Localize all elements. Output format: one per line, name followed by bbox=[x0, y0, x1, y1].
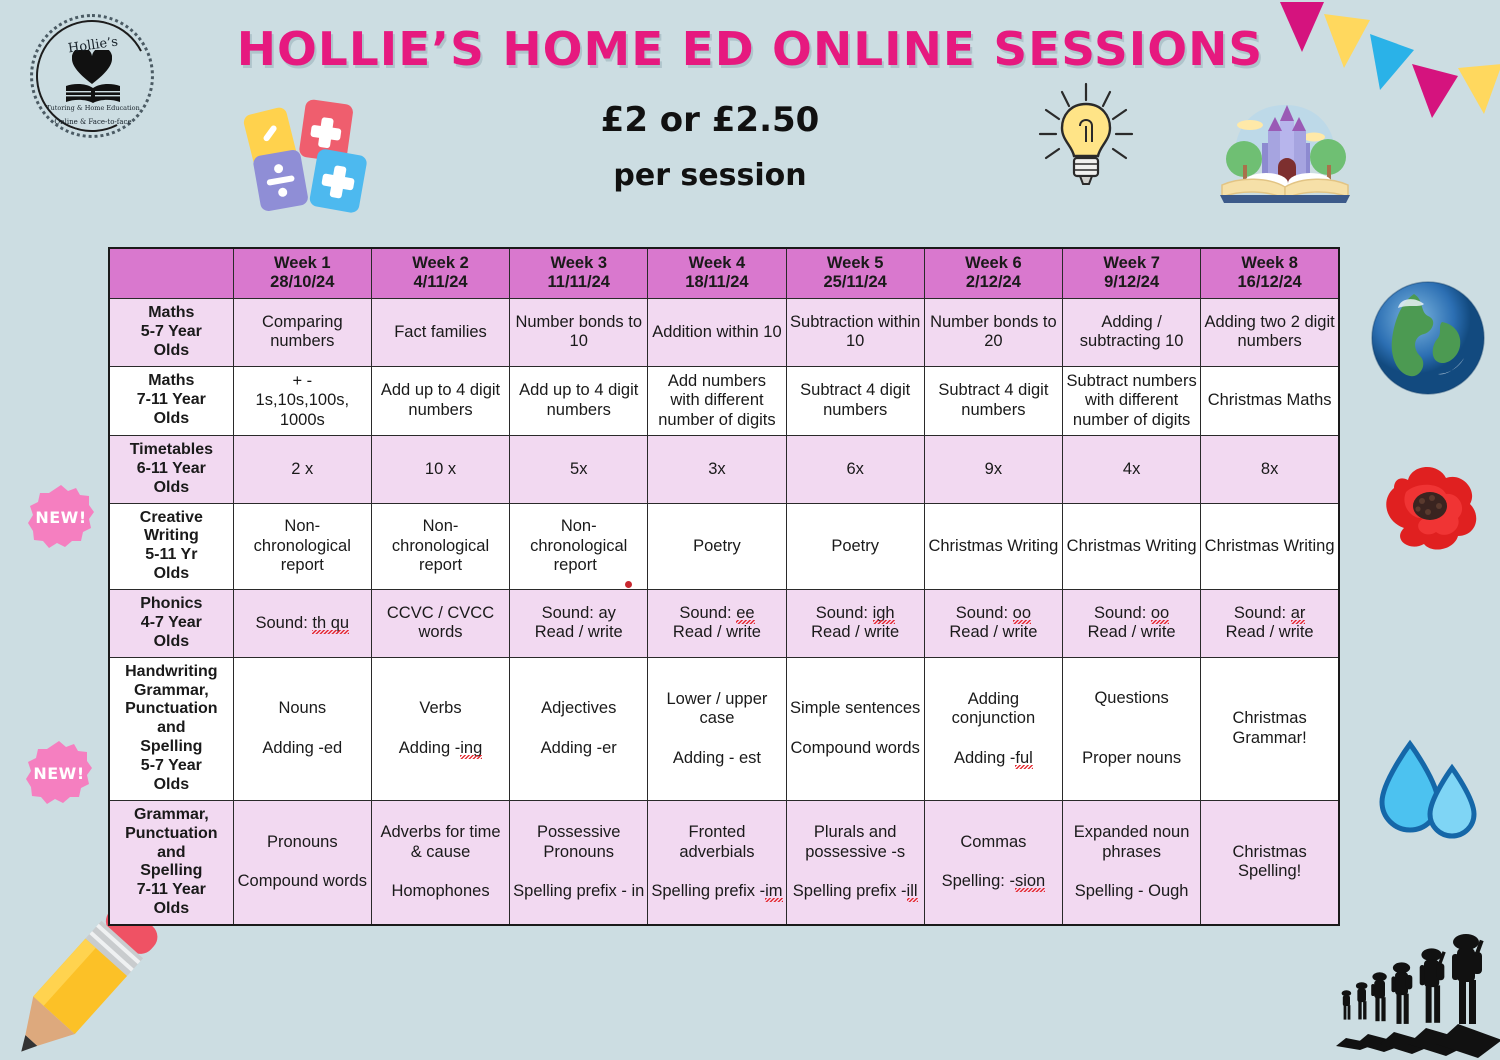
table-cell: Addition within 10 bbox=[648, 298, 786, 366]
new-badge-label: NEW! bbox=[33, 764, 84, 783]
soldiers-icon bbox=[1332, 916, 1500, 1060]
table-cell: 4x bbox=[1063, 435, 1201, 503]
column-date-label: 28/10/24 bbox=[237, 273, 368, 292]
column-week-label: Week 8 bbox=[1204, 254, 1335, 273]
logo-subtitle-1: Tutoring & Home Education bbox=[28, 104, 158, 112]
table-cell: Christmas Writing bbox=[1063, 503, 1201, 590]
table-row: Maths5-7 YearOldsComparing numbersFact f… bbox=[109, 298, 1339, 366]
table-cell: Fronted adverbialsSpelling prefix -im bbox=[648, 800, 786, 925]
table-cell: 6x bbox=[786, 435, 924, 503]
globe-icon bbox=[1368, 278, 1488, 398]
table-cell: Adding two 2 digit numbers bbox=[1201, 298, 1339, 366]
table-cell: Poetry bbox=[786, 503, 924, 590]
column-header-week-1: Week 128/10/24 bbox=[233, 248, 371, 298]
column-header-week-3: Week 311/11/24 bbox=[510, 248, 648, 298]
column-week-label: Week 5 bbox=[790, 254, 921, 273]
table-cell: Adding conjunctionAdding -ful bbox=[924, 657, 1062, 800]
table-row: Phonics4-7 YearOldsSound: th quCCVC / CV… bbox=[109, 590, 1339, 658]
table-cell: Comparing numbers bbox=[233, 298, 371, 366]
table-row: Timetables6-11 YearOlds2 x10 x5x3x6x9x4x… bbox=[109, 435, 1339, 503]
column-header-week-7: Week 79/12/24 bbox=[1063, 248, 1201, 298]
new-badge-handwriting: NEW! bbox=[26, 740, 92, 806]
table-cell: Adverbs for time & causeHomophones bbox=[371, 800, 509, 925]
table-row: Maths7-11 YearOlds+ -1s,10s,100s, 1000sA… bbox=[109, 366, 1339, 435]
row-header-subject: Grammar,PunctuationandSpelling7-11 YearO… bbox=[109, 800, 233, 925]
table-cell: Add up to 4 digit numbers bbox=[510, 366, 648, 435]
column-header-week-4: Week 418/11/24 bbox=[648, 248, 786, 298]
column-week-label: Week 3 bbox=[513, 254, 644, 273]
table-cell: PronounsCompound words bbox=[233, 800, 371, 925]
table-cell: Lower / upper caseAdding - est bbox=[648, 657, 786, 800]
row-header-subject: CreativeWriting5-11 YrOlds bbox=[109, 503, 233, 590]
header-corner bbox=[109, 248, 233, 298]
table-cell: Subtract 4 digit numbers bbox=[786, 366, 924, 435]
table-cell: Non-chronological report bbox=[510, 503, 648, 590]
row-header-subject: Maths5-7 YearOlds bbox=[109, 298, 233, 366]
table-row: CreativeWriting5-11 YrOldsNon-chronologi… bbox=[109, 503, 1339, 590]
table-cell: Sound: eeRead / write bbox=[648, 590, 786, 658]
table-cell: 2 x bbox=[233, 435, 371, 503]
table-cell: 5x bbox=[510, 435, 648, 503]
column-week-label: Week 6 bbox=[928, 254, 1059, 273]
table-cell: Subtract 4 digit numbers bbox=[924, 366, 1062, 435]
column-date-label: 18/11/24 bbox=[651, 273, 782, 292]
column-date-label: 25/11/24 bbox=[790, 273, 921, 292]
table-cell: Number bonds to 20 bbox=[924, 298, 1062, 366]
table-cell: Christmas Maths bbox=[1201, 366, 1339, 435]
table-cell: Expanded noun phrasesSpelling - Ough bbox=[1063, 800, 1201, 925]
table-row: Grammar,PunctuationandSpelling7-11 YearO… bbox=[109, 800, 1339, 925]
table-cell: Sound: ooRead / write bbox=[1063, 590, 1201, 658]
table-cell: Add up to 4 digit numbers bbox=[371, 366, 509, 435]
column-date-label: 2/12/24 bbox=[928, 273, 1059, 292]
new-badge-label: NEW! bbox=[35, 508, 86, 527]
table-cell: Sound: th qu bbox=[233, 590, 371, 658]
table-cell: VerbsAdding -ing bbox=[371, 657, 509, 800]
table-cell: CommasSpelling: -sion bbox=[924, 800, 1062, 925]
table-cell: NounsAdding -ed bbox=[233, 657, 371, 800]
math-symbols-icon bbox=[240, 96, 390, 216]
table-cell: Subtract numbers with different number o… bbox=[1063, 366, 1201, 435]
table-header: Week 128/10/24Week 24/11/24Week 311/11/2… bbox=[109, 248, 1339, 298]
header-row: Week 128/10/24Week 24/11/24Week 311/11/2… bbox=[109, 248, 1339, 298]
table-cell: QuestionsProper nouns bbox=[1063, 657, 1201, 800]
column-week-label: Week 2 bbox=[375, 254, 506, 273]
table-cell: Non-chronological report bbox=[233, 503, 371, 590]
lightbulb-icon bbox=[1026, 80, 1146, 200]
table-cell: Add numbers with different number of dig… bbox=[648, 366, 786, 435]
table-cell: + -1s,10s,100s, 1000s bbox=[233, 366, 371, 435]
poppy-icon bbox=[1366, 448, 1492, 558]
table-cell: Christmas Writing bbox=[1201, 503, 1339, 590]
row-header-subject: Maths7-11 YearOlds bbox=[109, 366, 233, 435]
red-dot-marker bbox=[625, 581, 632, 588]
table-cell: Possessive PronounsSpelling prefix - in bbox=[510, 800, 648, 925]
column-header-week-2: Week 24/11/24 bbox=[371, 248, 509, 298]
table-cell: Christmas Writing bbox=[924, 503, 1062, 590]
column-header-week-5: Week 525/11/24 bbox=[786, 248, 924, 298]
table-cell: 3x bbox=[648, 435, 786, 503]
column-date-label: 11/11/24 bbox=[513, 273, 644, 292]
column-date-label: 16/12/24 bbox=[1204, 273, 1335, 292]
table-cell: Fact families bbox=[371, 298, 509, 366]
column-week-label: Week 4 bbox=[651, 254, 782, 273]
table-cell: Sound: arRead / write bbox=[1201, 590, 1339, 658]
row-header-subject: Timetables6-11 YearOlds bbox=[109, 435, 233, 503]
logo-subtitle-2: Online & Face-to-face bbox=[28, 118, 158, 126]
table-cell: Christmas Spelling! bbox=[1201, 800, 1339, 925]
per-session-text: per session bbox=[480, 158, 940, 193]
table-cell: Adding / subtracting 10 bbox=[1063, 298, 1201, 366]
table-cell: Sound: ooRead / write bbox=[924, 590, 1062, 658]
table-cell: Sound: ighRead / write bbox=[786, 590, 924, 658]
column-week-label: Week 7 bbox=[1066, 254, 1197, 273]
column-week-label: Week 1 bbox=[237, 254, 368, 273]
new-badge-timetables: NEW! bbox=[28, 484, 94, 550]
table-body: Maths5-7 YearOldsComparing numbersFact f… bbox=[109, 298, 1339, 925]
column-header-week-8: Week 816/12/24 bbox=[1201, 248, 1339, 298]
row-header-subject: Phonics4-7 YearOlds bbox=[109, 590, 233, 658]
castle-book-icon bbox=[1210, 95, 1360, 205]
column-date-label: 4/11/24 bbox=[375, 273, 506, 292]
table-cell: 9x bbox=[924, 435, 1062, 503]
table-cell: Christmas Grammar! bbox=[1201, 657, 1339, 800]
table-cell: 10 x bbox=[371, 435, 509, 503]
column-date-label: 9/12/24 bbox=[1066, 273, 1197, 292]
schedule-table: Week 128/10/24Week 24/11/24Week 311/11/2… bbox=[108, 247, 1340, 926]
table-cell: Poetry bbox=[648, 503, 786, 590]
table-cell: Simple sentencesCompound words bbox=[786, 657, 924, 800]
table-cell: Plurals and possessive -sSpelling prefix… bbox=[786, 800, 924, 925]
table-cell: Number bonds to 10 bbox=[510, 298, 648, 366]
table-cell: AdjectivesAdding -er bbox=[510, 657, 648, 800]
table-cell: 8x bbox=[1201, 435, 1339, 503]
table-cell: Sound: ayRead / write bbox=[510, 590, 648, 658]
table-row: HandwritingGrammar,PunctuationandSpellin… bbox=[109, 657, 1339, 800]
column-header-week-6: Week 62/12/24 bbox=[924, 248, 1062, 298]
open-book-icon bbox=[64, 82, 122, 104]
table-cell: Subtraction within 10 bbox=[786, 298, 924, 366]
table-cell: Non-chronological report bbox=[371, 503, 509, 590]
price-text: £2 or £2.50 bbox=[480, 100, 940, 140]
water-drops-icon bbox=[1376, 738, 1482, 848]
row-header-subject: HandwritingGrammar,PunctuationandSpellin… bbox=[109, 657, 233, 800]
table-cell: CCVC / CVCC words bbox=[371, 590, 509, 658]
poster-canvas: Hollie’s Tutoring & Home Education Onlin… bbox=[0, 0, 1500, 1060]
